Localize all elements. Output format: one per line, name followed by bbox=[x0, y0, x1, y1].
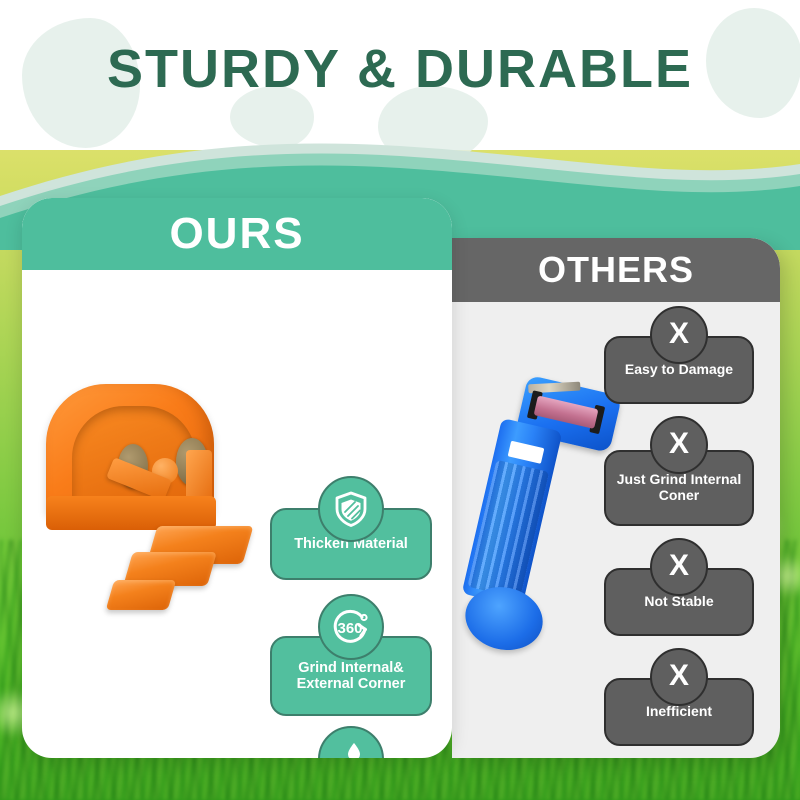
x-glyph: X bbox=[669, 551, 689, 581]
x-mark-icon: X bbox=[650, 538, 708, 596]
ours-feature-list: Thicken Material Grind Internal& Externa… bbox=[270, 476, 432, 758]
x-glyph: X bbox=[669, 319, 689, 349]
orange-accessory bbox=[106, 580, 177, 610]
ours-panel: OURS Thicken Material bbox=[22, 198, 452, 758]
shield-icon bbox=[318, 476, 384, 542]
ours-feature-1: Grind Internal& External Corner 360 bbox=[270, 594, 432, 716]
svg-text:360: 360 bbox=[337, 620, 362, 637]
hand-droplet-icon bbox=[318, 726, 384, 758]
others-feature-0: Easy to Damage X bbox=[604, 306, 754, 404]
ours-feature-2: Stable to Grind bbox=[270, 726, 432, 758]
orange-sharpener-image bbox=[40, 378, 280, 628]
x-glyph: X bbox=[669, 661, 689, 691]
others-feature-list: Easy to Damage X Just Grind Internal Con… bbox=[604, 306, 754, 736]
x-mark-icon: X bbox=[650, 416, 708, 474]
others-feature-1: Just Grind Internal Coner X bbox=[604, 416, 754, 526]
orange-cavity bbox=[72, 406, 196, 506]
promo-canvas: STURDY & DURABLE OTHERS bbox=[0, 0, 800, 800]
x-mark-icon: X bbox=[650, 648, 708, 706]
others-feature-3: Inefficient X bbox=[604, 648, 754, 746]
ours-feature-0: Thicken Material bbox=[270, 476, 432, 580]
ours-heading: OURS bbox=[22, 198, 452, 270]
orange-base bbox=[46, 496, 216, 530]
page-title: STURDY & DURABLE bbox=[0, 38, 800, 100]
others-panel: OTHERS Easy to Damage X bbox=[452, 238, 780, 758]
others-feature-2: Not Stable X bbox=[604, 538, 754, 636]
others-heading: OTHERS bbox=[452, 238, 780, 302]
x-mark-icon: X bbox=[650, 306, 708, 364]
360-rotation-icon: 360 bbox=[318, 594, 384, 660]
blue-sharpener-image bbox=[460, 370, 610, 670]
x-glyph: X bbox=[669, 429, 689, 459]
